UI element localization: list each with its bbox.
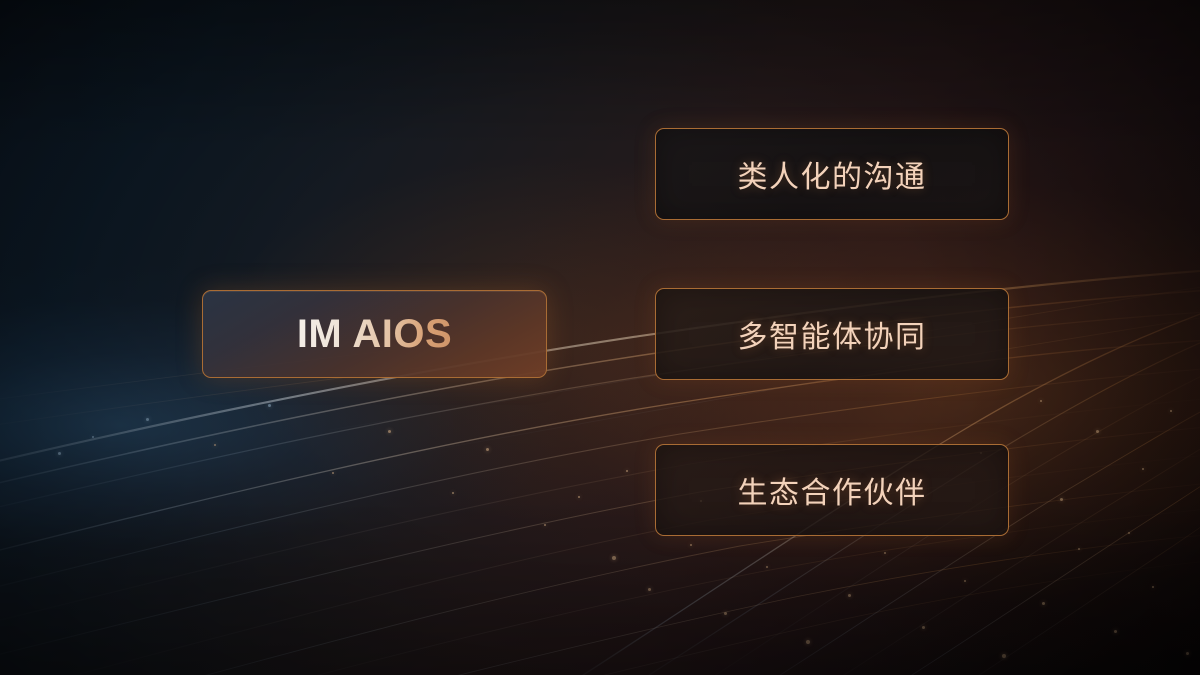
connector-lines: [0, 0, 1200, 675]
node-branch-2[interactable]: 多智能体协同: [655, 288, 1009, 380]
aios-tree-diagram: IM AIOS 类人化的沟通 多智能体协同 生态合作伙伴: [0, 0, 1200, 675]
node-root-im-aios[interactable]: IM AIOS: [202, 290, 547, 378]
node-branch-3[interactable]: 生态合作伙伴: [655, 444, 1009, 536]
node-root-label: IM AIOS: [297, 312, 452, 357]
slide-canvas: IM AIOS 类人化的沟通 多智能体协同 生态合作伙伴: [0, 0, 1200, 675]
node-branch-3-label: 生态合作伙伴: [738, 468, 927, 512]
node-branch-1-label: 类人化的沟通: [738, 152, 927, 196]
node-branch-2-label: 多智能体协同: [738, 312, 927, 356]
node-branch-1[interactable]: 类人化的沟通: [655, 128, 1009, 220]
